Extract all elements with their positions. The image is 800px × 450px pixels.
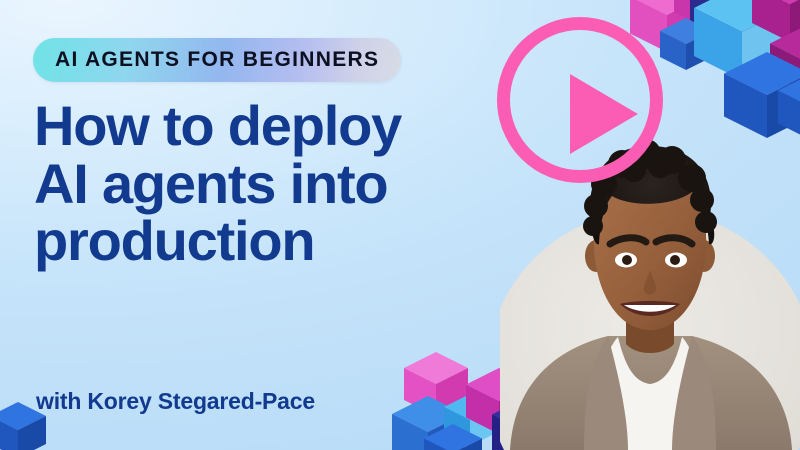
cube-blue-bottom-b-face-top <box>392 396 464 450</box>
cube-skyblue-top-main-face-top <box>694 0 790 80</box>
cube-magenta-top-e-icon <box>752 0 800 42</box>
title-line-2: AI agents into <box>34 155 504 213</box>
cube-blue-top-d-icon <box>660 18 712 70</box>
cube-blue-top-d-face-right <box>660 18 712 70</box>
cube-skyblue-top-main-face-left <box>694 0 790 80</box>
series-badge-label: AI AGENTS FOR BEGINNERS <box>55 48 379 72</box>
cube-blue-bottom-h-face-left <box>424 424 482 450</box>
cube-blue-bottom-h-icon <box>424 424 482 450</box>
cube-blue-bottom-b-face-right <box>392 396 464 450</box>
cube-indigo-top-c-face-right <box>690 0 762 42</box>
cube-magenta-top-b-face-top <box>674 0 744 30</box>
cube-purple-top-f-icon <box>770 28 800 90</box>
cube-pink-bottom-a-icon <box>404 352 468 416</box>
cube-blue-bottom-h-face-right <box>424 424 482 450</box>
cube-magenta-top-b-face-left <box>674 0 744 30</box>
page-title: How to deploy AI agents into production <box>34 97 504 270</box>
cube-sky-bottom-c-face-left <box>444 394 496 446</box>
cube-blue-top-d-face-top <box>660 18 712 70</box>
cube-magenta-top-e-face-right <box>752 0 800 42</box>
series-badge: AI AGENTS FOR BEGINNERS <box>33 38 401 82</box>
play-icon[interactable] <box>497 17 663 183</box>
cube-purple-top-f-face-right <box>770 28 800 90</box>
cube-magenta-top-b-face-right <box>674 0 744 30</box>
title-line-1: How to deploy <box>34 97 504 155</box>
cube-sky-bottom-c-icon <box>444 394 496 446</box>
play-triangle-icon <box>570 74 638 154</box>
video-thumbnail: AI AGENTS FOR BEGINNERS How to deploy AI… <box>0 0 800 450</box>
cube-indigo-top-c-face-left <box>690 0 762 42</box>
cube-blue-bottom-b-face-left <box>392 396 464 450</box>
cube-indigo-top-c-face-top <box>690 0 762 42</box>
cube-blue-bottom-h-face-top <box>424 424 482 450</box>
cube-sky-bottom-c-face-right <box>444 394 496 446</box>
cube-purple-top-f-face-top <box>770 28 800 90</box>
cube-magenta-top-b-icon <box>674 0 744 30</box>
presenter-credit: with Korey Stegared-Pace <box>36 388 315 415</box>
cube-sky-bottom-c-face-top <box>444 394 496 446</box>
cube-pink-bottom-a-face-left <box>404 352 468 416</box>
cube-skyblue-top-main-face-right <box>694 0 790 80</box>
title-line-3: production <box>34 212 504 270</box>
cube-blue-bottom-b-icon <box>392 396 464 450</box>
cube-pink-bottom-a-face-top <box>404 352 468 416</box>
cube-blue-top-d-face-left <box>660 18 712 70</box>
cube-purple-top-f-face-left <box>770 28 800 90</box>
cube-skyblue-top-main-icon <box>694 0 790 80</box>
cube-magenta-top-e-face-top <box>752 0 800 42</box>
cube-pink-bottom-a-face-right <box>404 352 468 416</box>
cube-magenta-top-e-face-left <box>752 0 800 42</box>
cube-indigo-top-c-icon <box>690 0 762 42</box>
